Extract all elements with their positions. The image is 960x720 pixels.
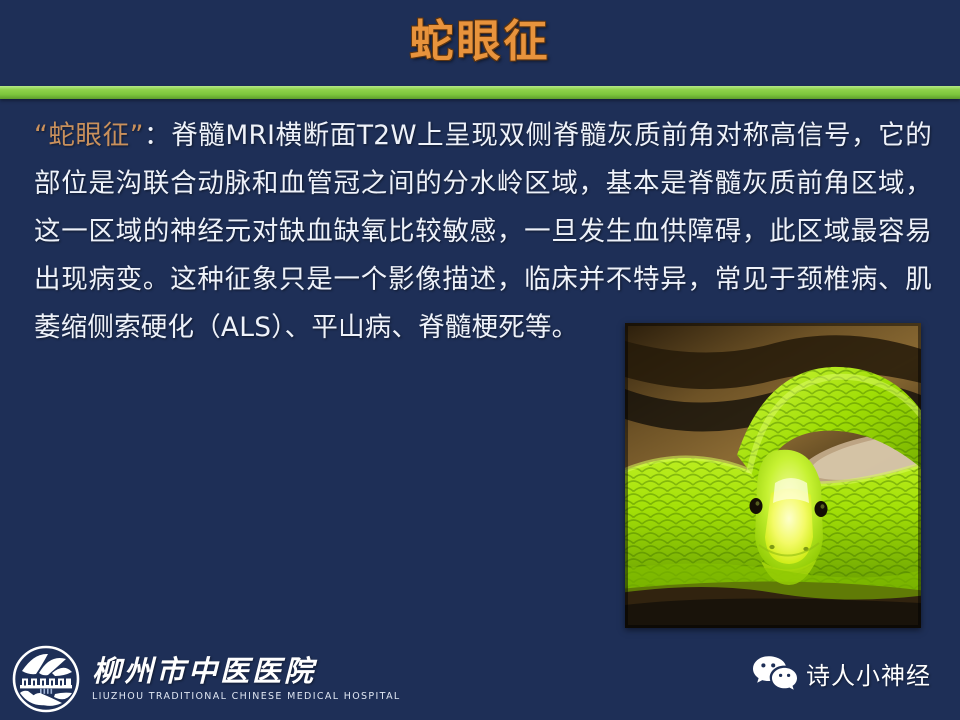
term-separator: ： [144,120,172,151]
snake-photo-canvas [625,323,921,628]
hospital-name-en: LIUZHOU TRADITIONAL CHINESE MEDICAL HOSP… [92,691,401,702]
title-zone: 蛇眼征 [0,0,960,86]
hospital-logo-text: 柳州市中医医院 LIUZHOU TRADITIONAL CHINESE MEDI… [92,656,401,701]
wechat-watermark: 诗人小神经 [752,655,931,691]
wechat-account-name: 诗人小神经 [806,656,931,691]
body-paragraph-text: 脊髓MRI横断面T2W上呈现双侧脊髓灰质前角对称高信号，它的部位是沟联合动脉和血… [34,120,932,343]
term-snake-eye-sign: “蛇眼征” [34,120,144,151]
page-title: 蛇眼征 [0,17,960,68]
title-divider-bar [0,86,960,99]
wechat-icon [752,655,798,691]
snake-photo: 绿色蛇特写照片 [625,323,921,628]
hospital-emblem-icon [12,645,80,713]
body-paragraph: “蛇眼征”：脊髓MRI横断面T2W上呈现双侧脊髓灰质前角对称高信号，它的部位是沟… [34,112,932,352]
hospital-name-cn: 柳州市中医医院 [92,656,401,687]
hospital-logo: 柳州市中医医院 LIUZHOU TRADITIONAL CHINESE MEDI… [12,645,401,713]
slide-canvas: 蛇眼征 “蛇眼征”：脊髓MRI横断面T2W上呈现双侧脊髓灰质前角对称高信号，它的… [0,0,960,720]
